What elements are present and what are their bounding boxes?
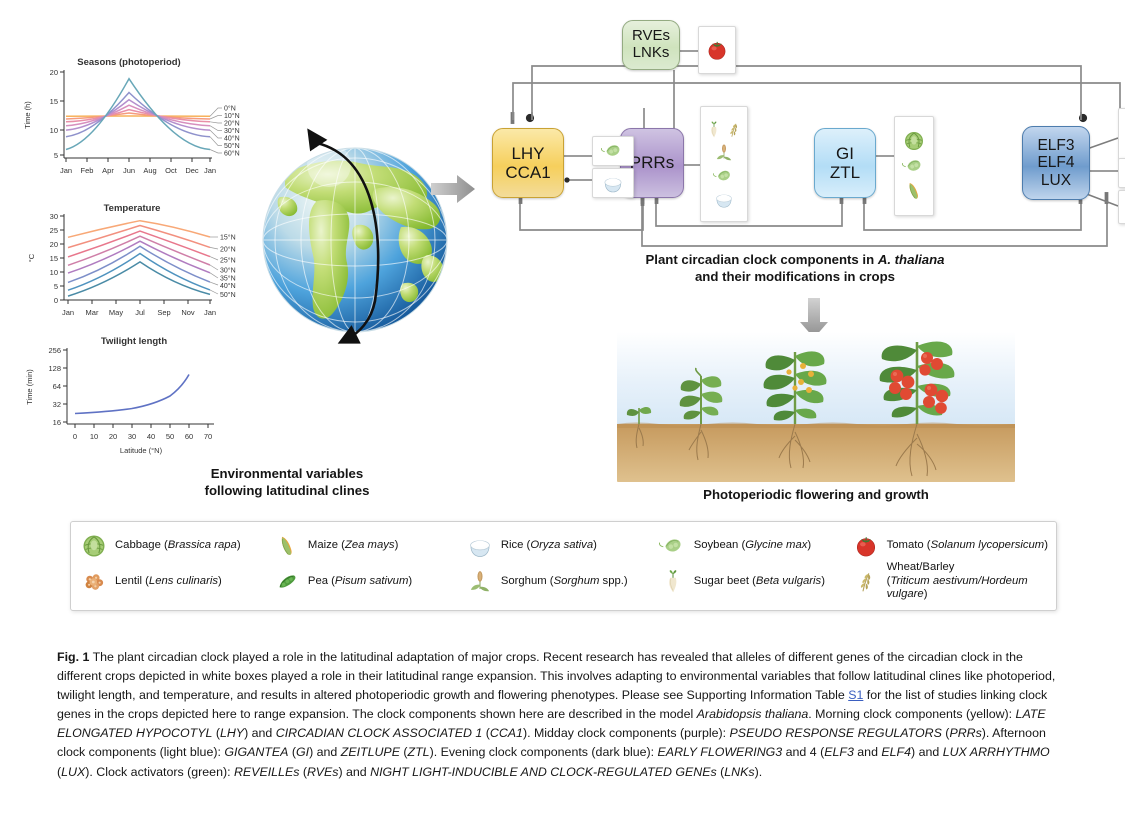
xtick-jul: Jul xyxy=(135,308,145,317)
maize-icon xyxy=(902,179,926,203)
caption-it15: LUX ARRHYTHMO xyxy=(943,745,1050,759)
rice-icon xyxy=(601,171,625,195)
caption-it17: REVEILLEs xyxy=(234,765,299,779)
crop-box-lux[interactable] xyxy=(1118,190,1125,224)
ytick-15: 15 xyxy=(50,97,58,106)
ytick-5: 5 xyxy=(54,151,58,160)
caption-p6: ( xyxy=(482,726,490,740)
xtick-apr: Apr xyxy=(102,166,114,175)
caption-p5: ) and xyxy=(244,726,276,740)
chart-title-photoperiod: Seasons (photoperiod) xyxy=(77,57,180,68)
ytick-20: 20 xyxy=(50,240,58,249)
crop-box-cca1-rice[interactable] xyxy=(592,168,634,198)
series-label-30N: 30°N xyxy=(224,127,240,135)
caption-p12: ( xyxy=(400,745,408,759)
legend-latin-wheat-barley: Triticum aestivum/Hordeum vulgare xyxy=(887,575,1028,601)
wheat-barley-icon xyxy=(851,567,881,597)
crop-legend: Cabbage (Brassica rapa) Maize (Zea mays)… xyxy=(70,521,1057,611)
node-label-lux: LUX xyxy=(1041,172,1071,189)
caption-it1: Arabidopsis thaliana xyxy=(697,707,809,721)
crop-box-rves-tomato[interactable] xyxy=(698,26,736,74)
node-elf3-elf4-lux[interactable]: ELF3 ELF4 LUX xyxy=(1022,126,1090,200)
maize-icon xyxy=(272,531,302,561)
diagram-caption: Plant circadian clock components in A. t… xyxy=(545,252,1045,285)
legend-latin-maize: Zea mays xyxy=(345,539,395,551)
caption-it8: GIGANTEA xyxy=(224,745,288,759)
ytick-30: 30 xyxy=(50,212,58,221)
series-label-20N: 20°N xyxy=(224,120,240,128)
xtick-jan2: Jan xyxy=(204,308,216,317)
xtick-jan: Jan xyxy=(60,166,72,175)
crop-box-elf4[interactable] xyxy=(1118,158,1125,188)
caption-it10: ZEITLUPE xyxy=(341,745,400,759)
xtick-jan2: Jan xyxy=(204,166,216,175)
chart-title-twilight: Twilight length xyxy=(101,336,168,347)
ytick-128: 128 xyxy=(48,364,61,373)
legend-name-sorghum: Sorghum xyxy=(501,575,547,587)
xtick-70: 70 xyxy=(204,432,212,441)
legend-item-lentil: Lentil (Lens culinaris) xyxy=(79,561,272,602)
rice-icon xyxy=(465,531,495,561)
legend-name-rice: Rice xyxy=(501,539,524,551)
sugar-beet-icon xyxy=(658,567,688,597)
caption-it4: CIRCADIAN CLOCK ASSOCIATED 1 xyxy=(276,726,483,740)
pea-icon xyxy=(272,567,302,597)
xtick-0: 0 xyxy=(73,432,77,441)
node-rves-lnks[interactable]: RVEs LNKs xyxy=(622,20,680,70)
series-label-20N: 20°N xyxy=(220,246,236,254)
legend-item-sugar-beet: Sugar beet (Beta vulgaris) xyxy=(658,561,851,602)
xtick-feb: Feb xyxy=(81,166,94,175)
ylabel-twilight: Time (min) xyxy=(25,369,34,405)
chart-title-temperature: Temperature xyxy=(104,203,161,214)
legend-suffix-sorghum: spp. xyxy=(599,575,624,587)
legend-name-cabbage: Cabbage xyxy=(115,539,161,551)
caption-p4: ( xyxy=(212,726,220,740)
series-label-35N: 35°N xyxy=(220,275,236,283)
legend-item-wheat-barley: Wheat/Barley(Triticum aestivum/Hordeum v… xyxy=(851,561,1048,602)
ytick-5: 5 xyxy=(54,282,58,291)
xtick-dec: Dec xyxy=(185,166,199,175)
figure-caption: Fig. 1 The plant circadian clock played … xyxy=(57,648,1069,782)
caption-p10: ( xyxy=(288,745,296,759)
node-gi-ztl[interactable]: GI ZTL xyxy=(814,128,876,198)
node-lhy-cca1[interactable]: LHY CCA1 xyxy=(492,128,564,198)
caption-p15: and xyxy=(854,745,882,759)
soybean-icon xyxy=(713,165,735,187)
node-label-lnks: LNKs xyxy=(633,45,670,62)
crop-box-prrs[interactable] xyxy=(700,106,748,222)
figure-graphic: Seasons (photoperiod) 20 15 10 5 Time (h… xyxy=(0,0,1125,640)
xtick-50: 50 xyxy=(166,432,174,441)
photoperiodic-growth-illustration xyxy=(617,332,1015,482)
legend-latin-lentil: Lens culinaris xyxy=(149,575,218,587)
crop-box-gi-ztl[interactable] xyxy=(894,116,934,216)
ytick-0: 0 xyxy=(54,296,58,305)
legend-item-tomato: Tomato (Solanum lycopersicum) xyxy=(851,530,1048,561)
ytick-256: 256 xyxy=(48,346,61,355)
legend-latin-rice: Oryza sativa xyxy=(530,539,593,551)
xtick-40: 40 xyxy=(147,432,155,441)
caption-it7: PRRs xyxy=(949,726,981,740)
xtick-jan: Jan xyxy=(62,308,74,317)
series-label-0N: 0°N xyxy=(224,105,236,113)
soybean-icon xyxy=(601,139,625,163)
lentil-icon xyxy=(79,567,109,597)
legend-item-maize: Maize (Zea mays) xyxy=(272,530,465,561)
series-label-25N: 25°N xyxy=(220,257,236,265)
legend-latin-sugar-beet: Beta vulgaris xyxy=(756,575,821,587)
legend-latin-pea: Pisum sativum xyxy=(335,575,408,587)
caption-it20: LNKs xyxy=(724,765,754,779)
legend-item-sorghum: Sorghum (Sorghum spp.) xyxy=(465,561,658,602)
legend-latin-tomato: Solanum lycopersicum xyxy=(931,539,1045,551)
wheat-barley-icon xyxy=(724,119,744,141)
series-label-15N: 15°N xyxy=(220,234,236,242)
tomato-icon xyxy=(704,37,730,63)
caption-it9: GI xyxy=(296,745,309,759)
xtick-nov: Nov xyxy=(181,308,195,317)
diagram-caption-species: A. thaliana xyxy=(878,252,945,267)
series-label-60N: 60°N xyxy=(224,150,240,158)
caption-it11: ZTL xyxy=(408,745,430,759)
caption-p18: ). Clock activators (green): xyxy=(85,765,234,779)
caption-it13: ELF3 xyxy=(824,745,854,759)
sugar-beet-icon xyxy=(704,119,724,141)
circadian-clock-diagram: RVEs LNKs LHY CCA1 PRRs GI ZTL ELF3 ELF4… xyxy=(470,8,1125,258)
ytick-20: 20 xyxy=(50,68,58,77)
caption-it18: RVEs xyxy=(307,765,338,779)
crop-box-lhy-soybean[interactable] xyxy=(592,136,634,166)
sorghum-icon xyxy=(713,142,735,164)
legend-name-sugar-beet: Sugar beet xyxy=(694,575,749,587)
figure-caption-label: Fig. 1 xyxy=(57,650,89,664)
xtick-60: 60 xyxy=(185,432,193,441)
crop-box-elf3[interactable] xyxy=(1118,108,1125,160)
chart-photoperiod: Seasons (photoperiod) 20 15 10 5 Time (h… xyxy=(14,52,264,192)
caption-p22: ). xyxy=(755,765,763,779)
cabbage-icon xyxy=(79,531,109,561)
caption-it12: EARLY FLOWERING3 xyxy=(658,745,783,759)
series-label-40N: 40°N xyxy=(224,135,240,143)
xtick-jun: Jun xyxy=(123,166,135,175)
ytick-16: 16 xyxy=(53,418,61,427)
xtick-sep: Sep xyxy=(157,308,170,317)
node-label-gi: GI xyxy=(836,144,854,163)
soybean-icon xyxy=(902,154,926,178)
caption-p16: ) and xyxy=(911,745,943,759)
xtick-10: 10 xyxy=(90,432,98,441)
caption-p11: ) and xyxy=(309,745,341,759)
caption-p14: and 4 ( xyxy=(782,745,824,759)
ylabel-photoperiod: Time (h) xyxy=(23,101,32,129)
caption-it3: LHY xyxy=(220,726,244,740)
xtick-oct: Oct xyxy=(165,166,178,175)
environmental-caption: Environmental variables following latitu… xyxy=(122,466,452,499)
legend-name-pea: Pea xyxy=(308,575,328,587)
series-label-50N: 50°N xyxy=(220,291,236,299)
legend-latin-soybean: Glycine max xyxy=(745,539,807,551)
node-label-ztl: ZTL xyxy=(830,163,860,182)
caption-p20: ) and xyxy=(338,765,370,779)
legend-item-soybean: Soybean (Glycine max) xyxy=(658,530,851,561)
tomato-icon xyxy=(851,531,881,561)
caption-p19: ( xyxy=(299,765,307,779)
xtick-30: 30 xyxy=(128,432,136,441)
node-label-lhy: LHY xyxy=(511,144,544,163)
chart-temperature: Temperature 30 25 20 15 10 5 0 °C xyxy=(14,200,264,328)
caption-p7: ). Midday clock components (purple): xyxy=(523,726,730,740)
node-label-elf3: ELF3 xyxy=(1037,137,1074,154)
xtick-mar: Mar xyxy=(86,308,99,317)
xtick-aug: Aug xyxy=(143,166,156,175)
ylabel-temperature: °C xyxy=(27,253,36,262)
diagram-caption-line2: and their modifications in crops xyxy=(695,269,895,284)
legend-item-cabbage: Cabbage (Brassica rapa) xyxy=(79,530,272,561)
caption-it5: CCA1 xyxy=(490,726,523,740)
caption-p13: ). Evening clock components (dark blue): xyxy=(430,745,658,759)
legend-name-tomato: Tomato xyxy=(887,539,924,551)
caption-p3: . Morning clock components (yellow): xyxy=(808,707,1015,721)
legend-name-wheat-barley: Wheat/Barley xyxy=(887,561,955,573)
soybean-icon xyxy=(658,531,688,561)
legend-latin-sorghum: Sorghum xyxy=(554,575,600,587)
caption-it6: PSEUDO RESPONSE REGULATORS xyxy=(730,726,942,740)
rice-icon xyxy=(713,188,735,210)
xtick-20: 20 xyxy=(109,432,117,441)
node-label-prrs: PRRs xyxy=(630,153,674,172)
plants-caption: Photoperiodic flowering and growth xyxy=(617,487,1015,504)
caption-it19: NIGHT LIGHT-INDUCIBLE AND CLOCK-REGULATE… xyxy=(370,765,717,779)
legend-item-rice: Rice (Oryza sativa) xyxy=(465,530,658,561)
ytick-32: 32 xyxy=(53,400,61,409)
node-label-cca1: CCA1 xyxy=(505,163,550,182)
table-s1-link[interactable]: S1 xyxy=(848,688,863,702)
cabbage-icon xyxy=(902,129,926,153)
diagram-caption-line1: Plant circadian clock components in xyxy=(646,252,878,267)
environmental-caption-line1: Environmental variables xyxy=(211,466,363,481)
caption-it14: ELF4 xyxy=(881,745,911,759)
ytick-64: 64 xyxy=(53,382,61,391)
ytick-15: 15 xyxy=(50,254,58,263)
node-label-elf4: ELF4 xyxy=(1037,154,1074,171)
series-label-30N: 30°N xyxy=(220,267,236,275)
legend-name-lentil: Lentil xyxy=(115,575,142,587)
environmental-caption-line2: following latitudinal clines xyxy=(205,483,370,498)
caption-it16: LUX xyxy=(61,765,85,779)
globe-illustration xyxy=(255,105,470,380)
series-label-10N: 10°N xyxy=(224,112,240,120)
legend-name-soybean: Soybean xyxy=(694,539,739,551)
xtick-may: May xyxy=(109,308,123,317)
sorghum-icon xyxy=(465,567,495,597)
legend-name-maize: Maize xyxy=(308,539,338,551)
series-label-40N: 40°N xyxy=(220,282,236,290)
chart-twilight: Twilight length 256 128 64 32 16 Time (m… xyxy=(14,332,264,457)
ytick-10: 10 xyxy=(50,268,58,277)
ytick-10: 10 xyxy=(50,126,58,135)
xlabel-twilight: Latitude (°N) xyxy=(120,446,163,455)
environmental-charts-panel: Seasons (photoperiod) 20 15 10 5 Time (h… xyxy=(14,52,264,457)
series-label-50N: 50°N xyxy=(224,142,240,150)
legend-latin-cabbage: Brassica rapa xyxy=(168,539,237,551)
ytick-25: 25 xyxy=(50,226,58,235)
node-label-rves: RVEs xyxy=(632,28,670,45)
legend-item-pea: Pea (Pisum sativum) xyxy=(272,561,465,602)
